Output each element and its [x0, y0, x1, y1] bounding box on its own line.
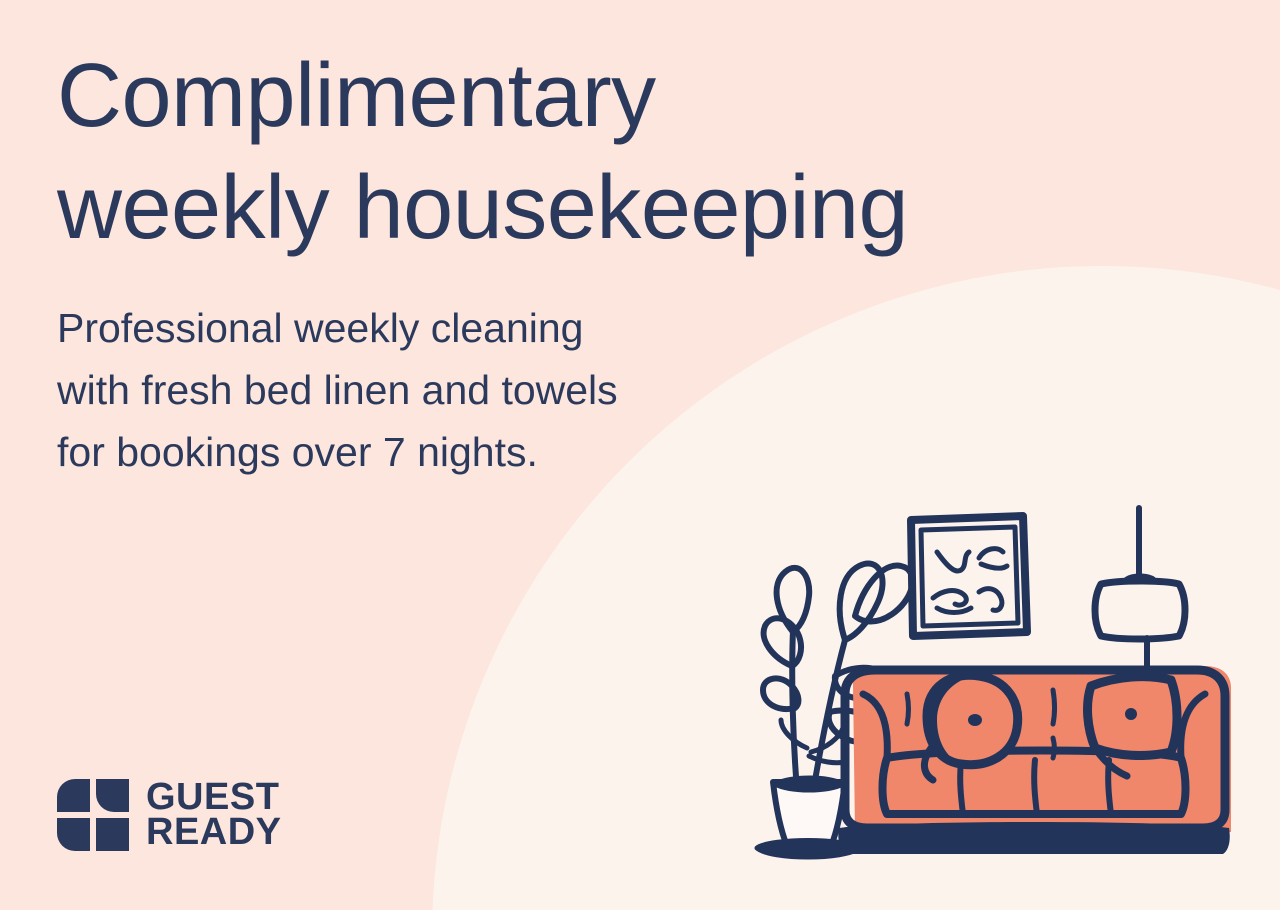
brand-wordmark: GUEST READY [146, 780, 282, 850]
guestready-logo-mark-icon [57, 779, 129, 851]
page-subtitle: Professional weekly cleaning with fresh … [57, 297, 817, 483]
promo-banner: Complimentary weekly housekeeping Profes… [0, 0, 1280, 910]
framed-artwork-group [911, 516, 1027, 636]
page-title: Complimentary weekly housekeeping [57, 40, 1067, 264]
sofa-group [838, 666, 1231, 854]
brand-logo: GUEST READY [57, 779, 282, 851]
living-room-illustration [735, 480, 1245, 870]
pendant-lamp-group [1095, 508, 1185, 666]
